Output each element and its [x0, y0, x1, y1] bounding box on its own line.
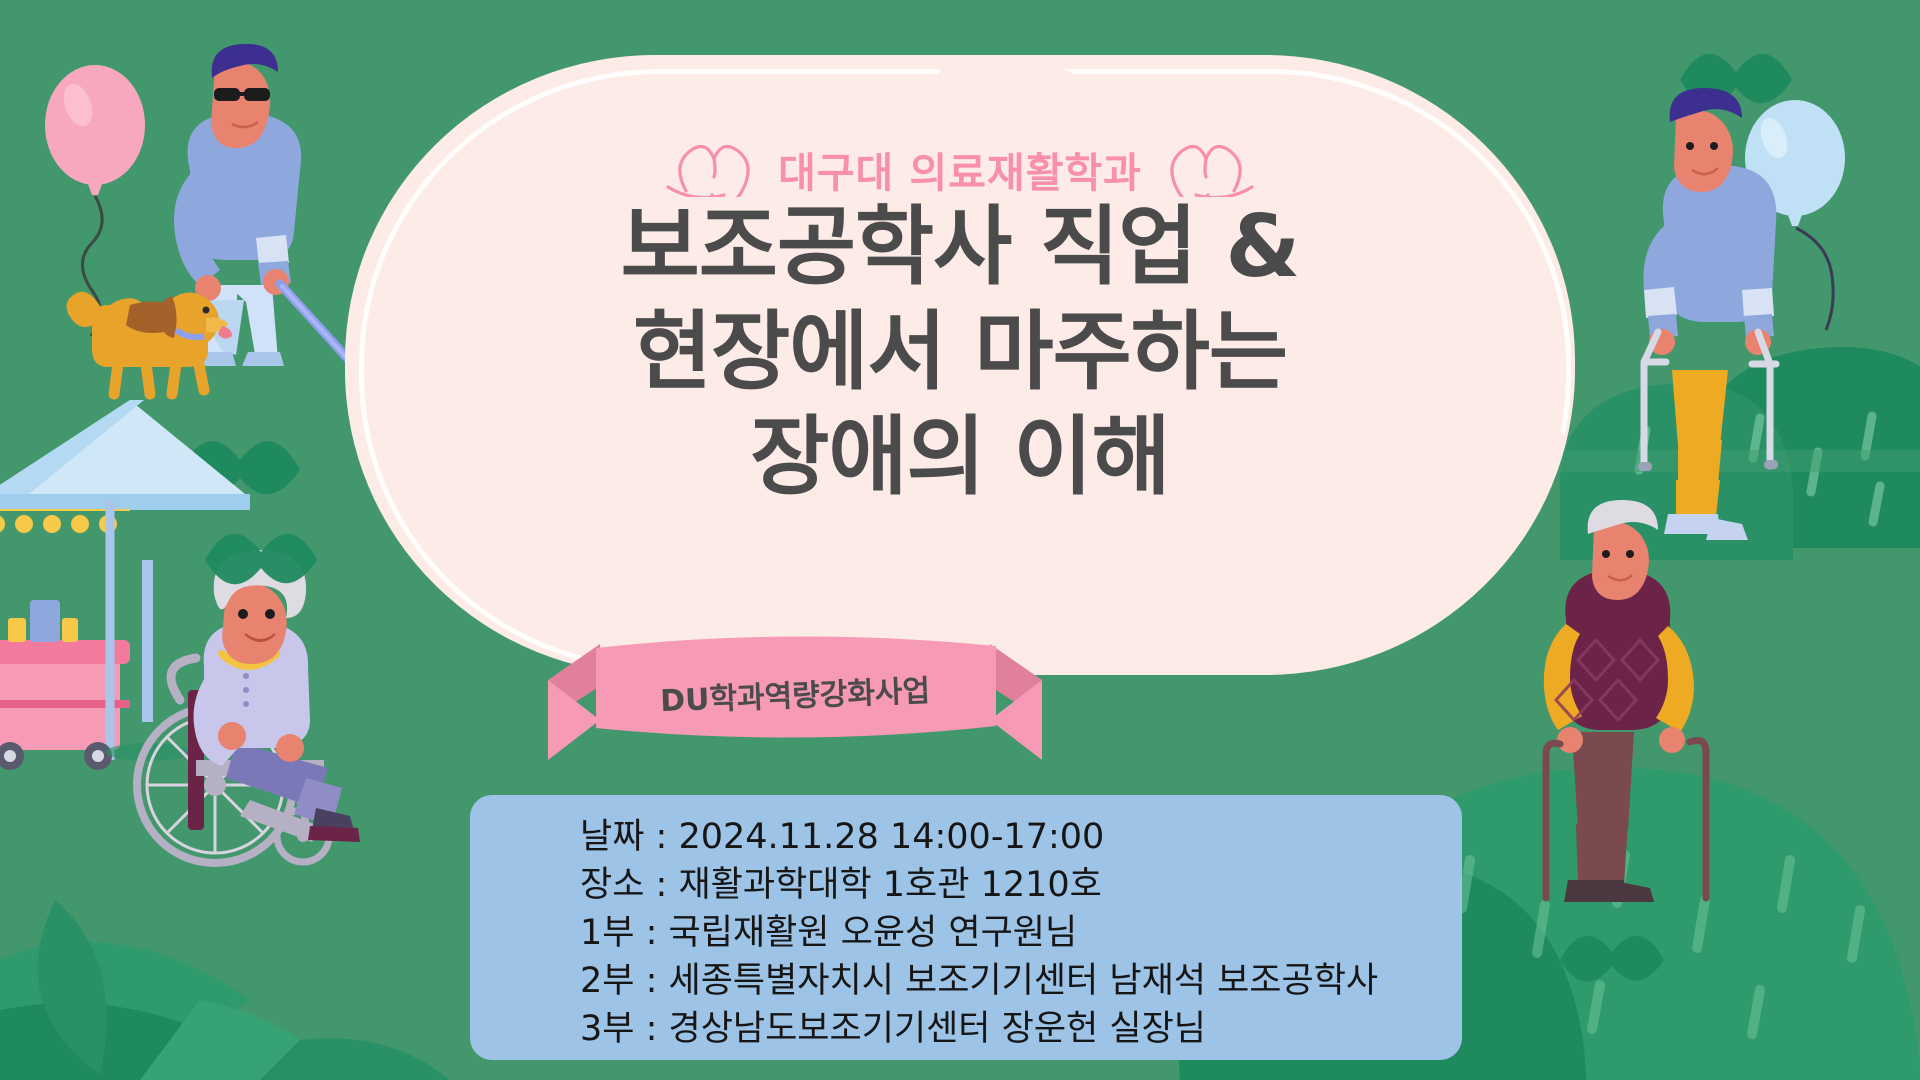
heart-ribbon-icon: [666, 141, 752, 197]
detail-session-2: 2부 : 세종특별자치시 보조기기센터 남재석 보조공학사: [470, 957, 1462, 1005]
detail-session-3: 3부 : 경상남도보조기기센터 장운헌 실장님: [470, 1005, 1462, 1053]
subtitle-row: 대구대 의료재활학과: [345, 140, 1575, 198]
title-line-3: 장애의 이해: [345, 405, 1575, 510]
page-title: 보조공학사 직업 & 현장에서 마주하는 장애의 이해: [345, 195, 1575, 510]
subtitle-text: 대구대 의료재활학과: [778, 139, 1142, 199]
ribbon-text-wrap: DU학과역량강화사업: [545, 640, 1045, 745]
heart-ribbon-icon: [1168, 141, 1254, 197]
ribbon-label: DU학과역량강화사업: [543, 630, 1047, 754]
detail-date: 날짜 : 2024.11.28 14:00-17:00: [470, 813, 1462, 861]
event-details-list: 날짜 : 2024.11.28 14:00-17:00 장소 : 재활과학대학 …: [470, 813, 1462, 1053]
event-poster: 대구대 의료재활학과 보조공학사 직업 & 현장에서 마주하는 장애의 이해 D…: [0, 0, 1920, 1080]
title-line-1: 보조공학사 직업 &: [345, 195, 1575, 300]
title-line-2: 현장에서 마주하는: [345, 300, 1575, 405]
event-details-box: 날짜 : 2024.11.28 14:00-17:00 장소 : 재활과학대학 …: [470, 795, 1462, 1060]
detail-location: 장소 : 재활과학대학 1호관 1210호: [470, 861, 1462, 909]
detail-session-1: 1부 : 국립재활원 오윤성 연구원님: [470, 909, 1462, 957]
